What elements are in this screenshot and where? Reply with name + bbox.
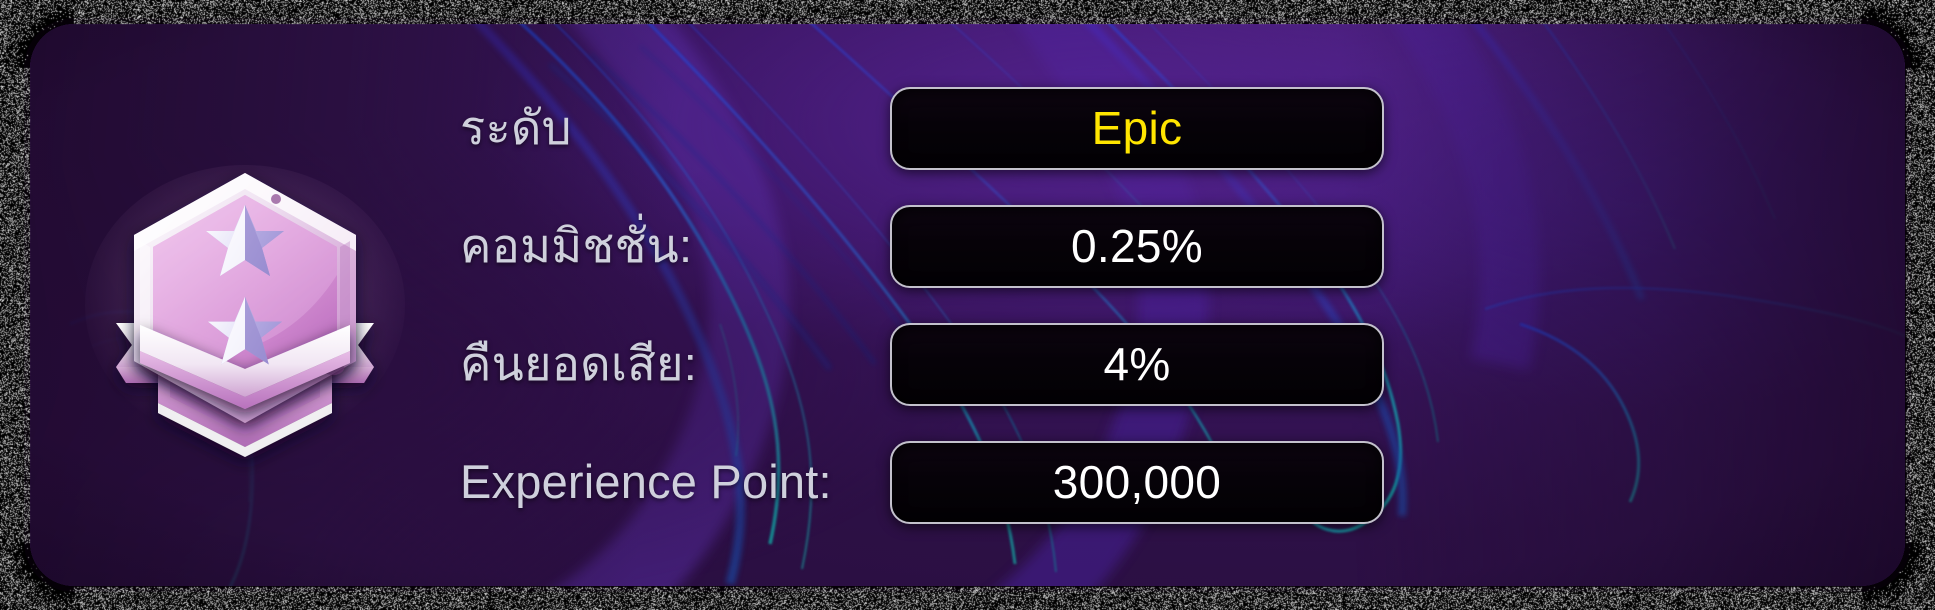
stat-row-cashback: คืนยอดเสีย: 4%	[460, 314, 1605, 414]
stat-box-commission[interactable]: 0.25%	[890, 205, 1384, 288]
stat-row-rank: ระดับ Epic	[460, 78, 1605, 178]
stat-box-rank[interactable]: Epic	[890, 87, 1384, 170]
stat-label-cashback: คืนยอดเสีย:	[460, 338, 890, 390]
stat-label-commission: คอมมิชชั่น:	[460, 220, 890, 272]
stat-label-experience-point: Experience Point:	[460, 456, 890, 508]
stat-value-rank: Epic	[1092, 105, 1183, 151]
stat-row-experience-point: Experience Point: 300,000	[460, 432, 1605, 532]
stat-row-commission: คอมมิชชั่น: 0.25%	[460, 196, 1605, 296]
stat-box-cashback[interactable]: 4%	[890, 323, 1384, 406]
stat-value-experience-point: 300,000	[1053, 459, 1221, 505]
stat-value-cashback: 4%	[1103, 341, 1170, 387]
screenshot-frame: ระดับ Epic คอมมิชชั่น: 0.25% คืนยอดเสีย:…	[0, 0, 1935, 610]
rank-badge-icon	[80, 155, 410, 455]
stat-box-experience-point[interactable]: 300,000	[890, 441, 1384, 524]
stat-label-rank: ระดับ	[460, 102, 890, 154]
badge-column	[30, 24, 460, 586]
rank-tier-card: ระดับ Epic คอมมิชชั่น: 0.25% คืนยอดเสีย:…	[30, 24, 1905, 586]
card-content-row: ระดับ Epic คอมมิชชั่น: 0.25% คืนยอดเสีย:…	[30, 24, 1905, 586]
stats-column: ระดับ Epic คอมมิชชั่น: 0.25% คืนยอดเสีย:…	[460, 24, 1905, 586]
stat-value-commission: 0.25%	[1071, 223, 1203, 269]
